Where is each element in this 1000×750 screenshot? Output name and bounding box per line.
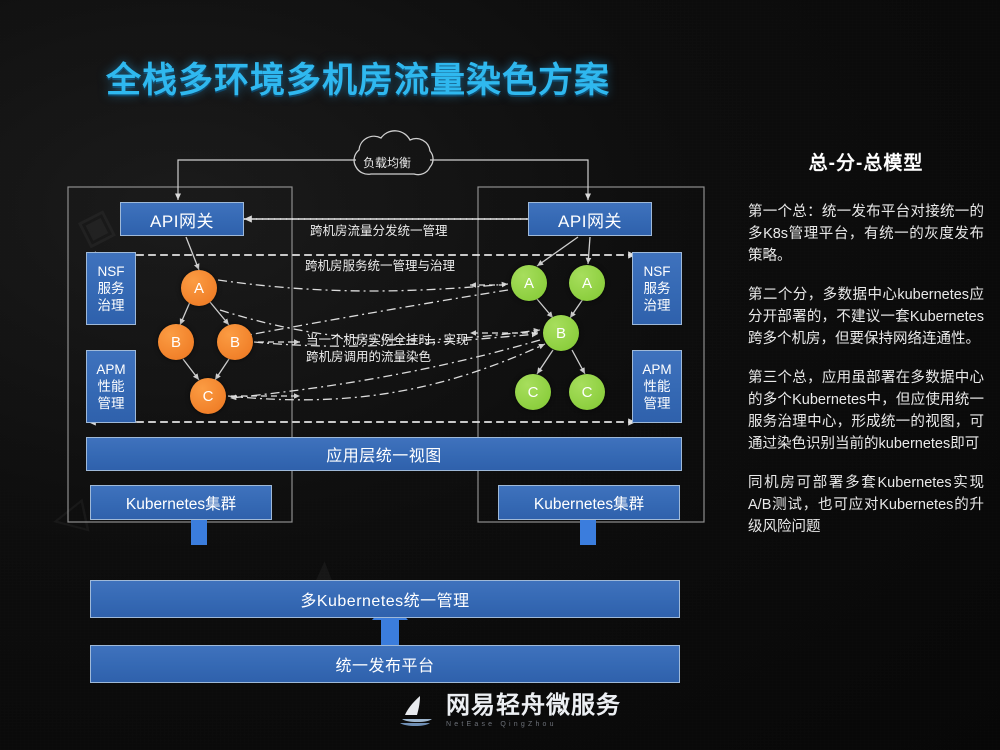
apm-right-line-1: APM	[642, 361, 671, 378]
panel-paragraph-3: 第三个总，应用虽部署在多数据中心的多个Kubernetes中，但应使用统一服务治…	[748, 367, 984, 455]
architecture-diagram: 负载均衡 API网关 API网关 NSF 服务 治理 APM 性能 管理 NSF…	[0, 0, 760, 750]
kubernetes-cluster-right[interactable]: Kubernetes集群	[498, 485, 680, 520]
apm-left-line-2: 性能	[98, 378, 125, 395]
apm-box-left[interactable]: APM 性能 管理	[86, 350, 136, 423]
kubernetes-cluster-left[interactable]: Kubernetes集群	[90, 485, 272, 520]
panel-heading: 总-分-总模型	[748, 148, 984, 175]
label-failover-line-1: 当一个机房实例全挂时，实现	[306, 332, 469, 349]
api-gateway-right[interactable]: API网关	[528, 202, 652, 236]
service-node-left-a[interactable]: A	[181, 270, 217, 306]
apm-left-line-3: 管理	[98, 395, 125, 412]
panel-paragraph-2: 第二个分，多数据中心kubernetes应分开部署的，不建议一套Kubernet…	[748, 284, 984, 350]
service-node-right-c2[interactable]: C	[569, 374, 605, 410]
api-gateway-left[interactable]: API网关	[120, 202, 244, 236]
service-node-left-c[interactable]: C	[190, 378, 226, 414]
apm-right-line-3: 管理	[644, 395, 671, 412]
multi-kubernetes-management-bar[interactable]: 多Kubernetes统一管理	[90, 580, 680, 618]
apm-left-line-1: APM	[96, 361, 125, 378]
nsf-right-line-3: 治理	[644, 297, 671, 314]
sail-boat-icon	[398, 694, 438, 728]
service-node-right-a2[interactable]: A	[569, 265, 605, 301]
apm-right-line-2: 性能	[644, 378, 671, 395]
explanation-panel: 总-分-总模型 第一个总：统一发布平台对接统一的多K8s管理平台，有统一的灰度发…	[748, 148, 984, 555]
nsf-right-line-1: NSF	[644, 263, 671, 280]
label-cross-room-service: 跨机房服务统一管理与治理	[305, 258, 455, 275]
cloud-label-load-balancer: 负载均衡	[363, 154, 411, 171]
logo-text-en: NetEase QingZhou	[446, 721, 621, 728]
nsf-left-line-3: 治理	[98, 297, 125, 314]
nsf-box-left[interactable]: NSF 服务 治理	[86, 252, 136, 325]
panel-paragraph-4: 同机房可部署多套Kubernetes实现A/B测试，也可应对Kubernetes…	[748, 472, 984, 538]
panel-paragraph-1: 第一个总：统一发布平台对接统一的多K8s管理平台，有统一的灰度发布策略。	[748, 201, 984, 267]
label-cross-room-traffic: 跨机房流量分发统一管理	[310, 223, 448, 240]
service-node-right-c1[interactable]: C	[515, 374, 551, 410]
service-node-right-a1[interactable]: A	[511, 265, 547, 301]
logo-text-cn: 网易轻舟微服务	[446, 694, 621, 718]
nsf-left-line-2: 服务	[98, 280, 125, 297]
service-node-left-b2[interactable]: B	[217, 324, 253, 360]
nsf-left-line-1: NSF	[98, 263, 125, 280]
label-failover-line-2: 跨机房调用的流量染色	[306, 349, 431, 366]
app-layer-unified-view-bar[interactable]: 应用层统一视图	[86, 437, 682, 471]
nsf-box-right[interactable]: NSF 服务 治理	[632, 252, 682, 325]
brand-logo: 网易轻舟微服务 NetEase QingZhou	[398, 694, 621, 728]
nsf-right-line-2: 服务	[644, 280, 671, 297]
unified-release-platform-bar[interactable]: 统一发布平台	[90, 645, 680, 683]
service-node-right-b[interactable]: B	[543, 315, 579, 351]
service-node-left-b1[interactable]: B	[158, 324, 194, 360]
apm-box-right[interactable]: APM 性能 管理	[632, 350, 682, 423]
